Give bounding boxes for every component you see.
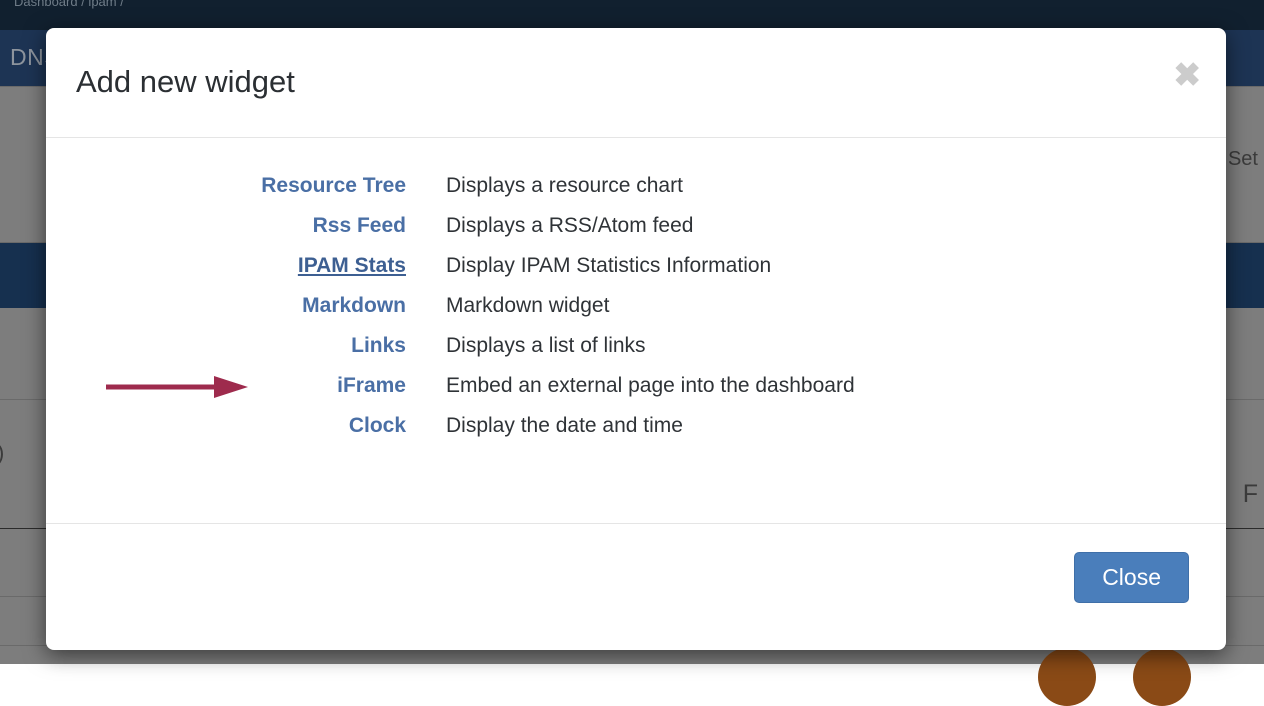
- page-title: Add new widget: [76, 66, 295, 97]
- background-top-strip: Dashboard / ipam /: [0, 0, 1264, 30]
- background-donut-chart: [1038, 648, 1096, 706]
- widget-description: Markdown widget: [446, 286, 855, 326]
- widget-name-cell: Rss Feed: [156, 206, 446, 246]
- add-widget-modal: Add new widget ✖ Resource Tree Displays …: [46, 28, 1226, 650]
- widget-list: Resource Tree Displays a resource chart …: [156, 166, 855, 446]
- widget-description: Displays a resource chart: [446, 166, 855, 206]
- widget-name-cell: Markdown: [156, 286, 446, 326]
- widget-link-clock[interactable]: Clock: [349, 414, 406, 437]
- widget-name-cell: iFrame: [156, 366, 446, 406]
- background-breadcrumb: Dashboard / ipam /: [14, 0, 124, 9]
- widget-link-rss-feed[interactable]: Rss Feed: [313, 214, 406, 237]
- background-label-paren: ): [0, 440, 4, 466]
- list-item[interactable]: Resource Tree Displays a resource chart: [156, 166, 855, 206]
- list-item[interactable]: IPAM Stats Display IPAM Statistics Infor…: [156, 246, 855, 286]
- list-item[interactable]: Links Displays a list of links: [156, 326, 855, 366]
- widget-description: Displays a RSS/Atom feed: [446, 206, 855, 246]
- widget-link-links[interactable]: Links: [351, 334, 406, 357]
- modal-header: Add new widget ✖: [46, 28, 1226, 138]
- modal-footer: Close: [46, 523, 1226, 649]
- widget-name-cell: Resource Tree: [156, 166, 446, 206]
- list-item[interactable]: Clock Display the date and time: [156, 406, 855, 446]
- widget-link-markdown[interactable]: Markdown: [302, 294, 406, 317]
- list-item[interactable]: Markdown Markdown widget: [156, 286, 855, 326]
- list-item[interactable]: iFrame Embed an external page into the d…: [156, 366, 855, 406]
- widget-name-cell: Clock: [156, 406, 446, 446]
- widget-description: Displays a list of links: [446, 326, 855, 366]
- close-button[interactable]: Close: [1074, 552, 1189, 603]
- list-item[interactable]: Rss Feed Displays a RSS/Atom feed: [156, 206, 855, 246]
- widget-link-ipam-stats[interactable]: IPAM Stats: [298, 254, 406, 277]
- widget-link-resource-tree[interactable]: Resource Tree: [261, 174, 406, 197]
- widget-description: Display the date and time: [446, 406, 855, 446]
- widget-description: Embed an external page into the dashboar…: [446, 366, 855, 406]
- background-donut-chart: [1133, 648, 1191, 706]
- background-label-f: F: [1243, 480, 1258, 509]
- modal-body: Resource Tree Displays a resource chart …: [46, 138, 1226, 523]
- background-label-settings: Set: [1228, 148, 1258, 171]
- widget-link-iframe[interactable]: iFrame: [337, 374, 406, 397]
- widget-description: Display IPAM Statistics Information: [446, 246, 855, 286]
- widget-name-cell: IPAM Stats: [156, 246, 446, 286]
- widget-name-cell: Links: [156, 326, 446, 366]
- close-icon[interactable]: ✖: [1173, 58, 1201, 91]
